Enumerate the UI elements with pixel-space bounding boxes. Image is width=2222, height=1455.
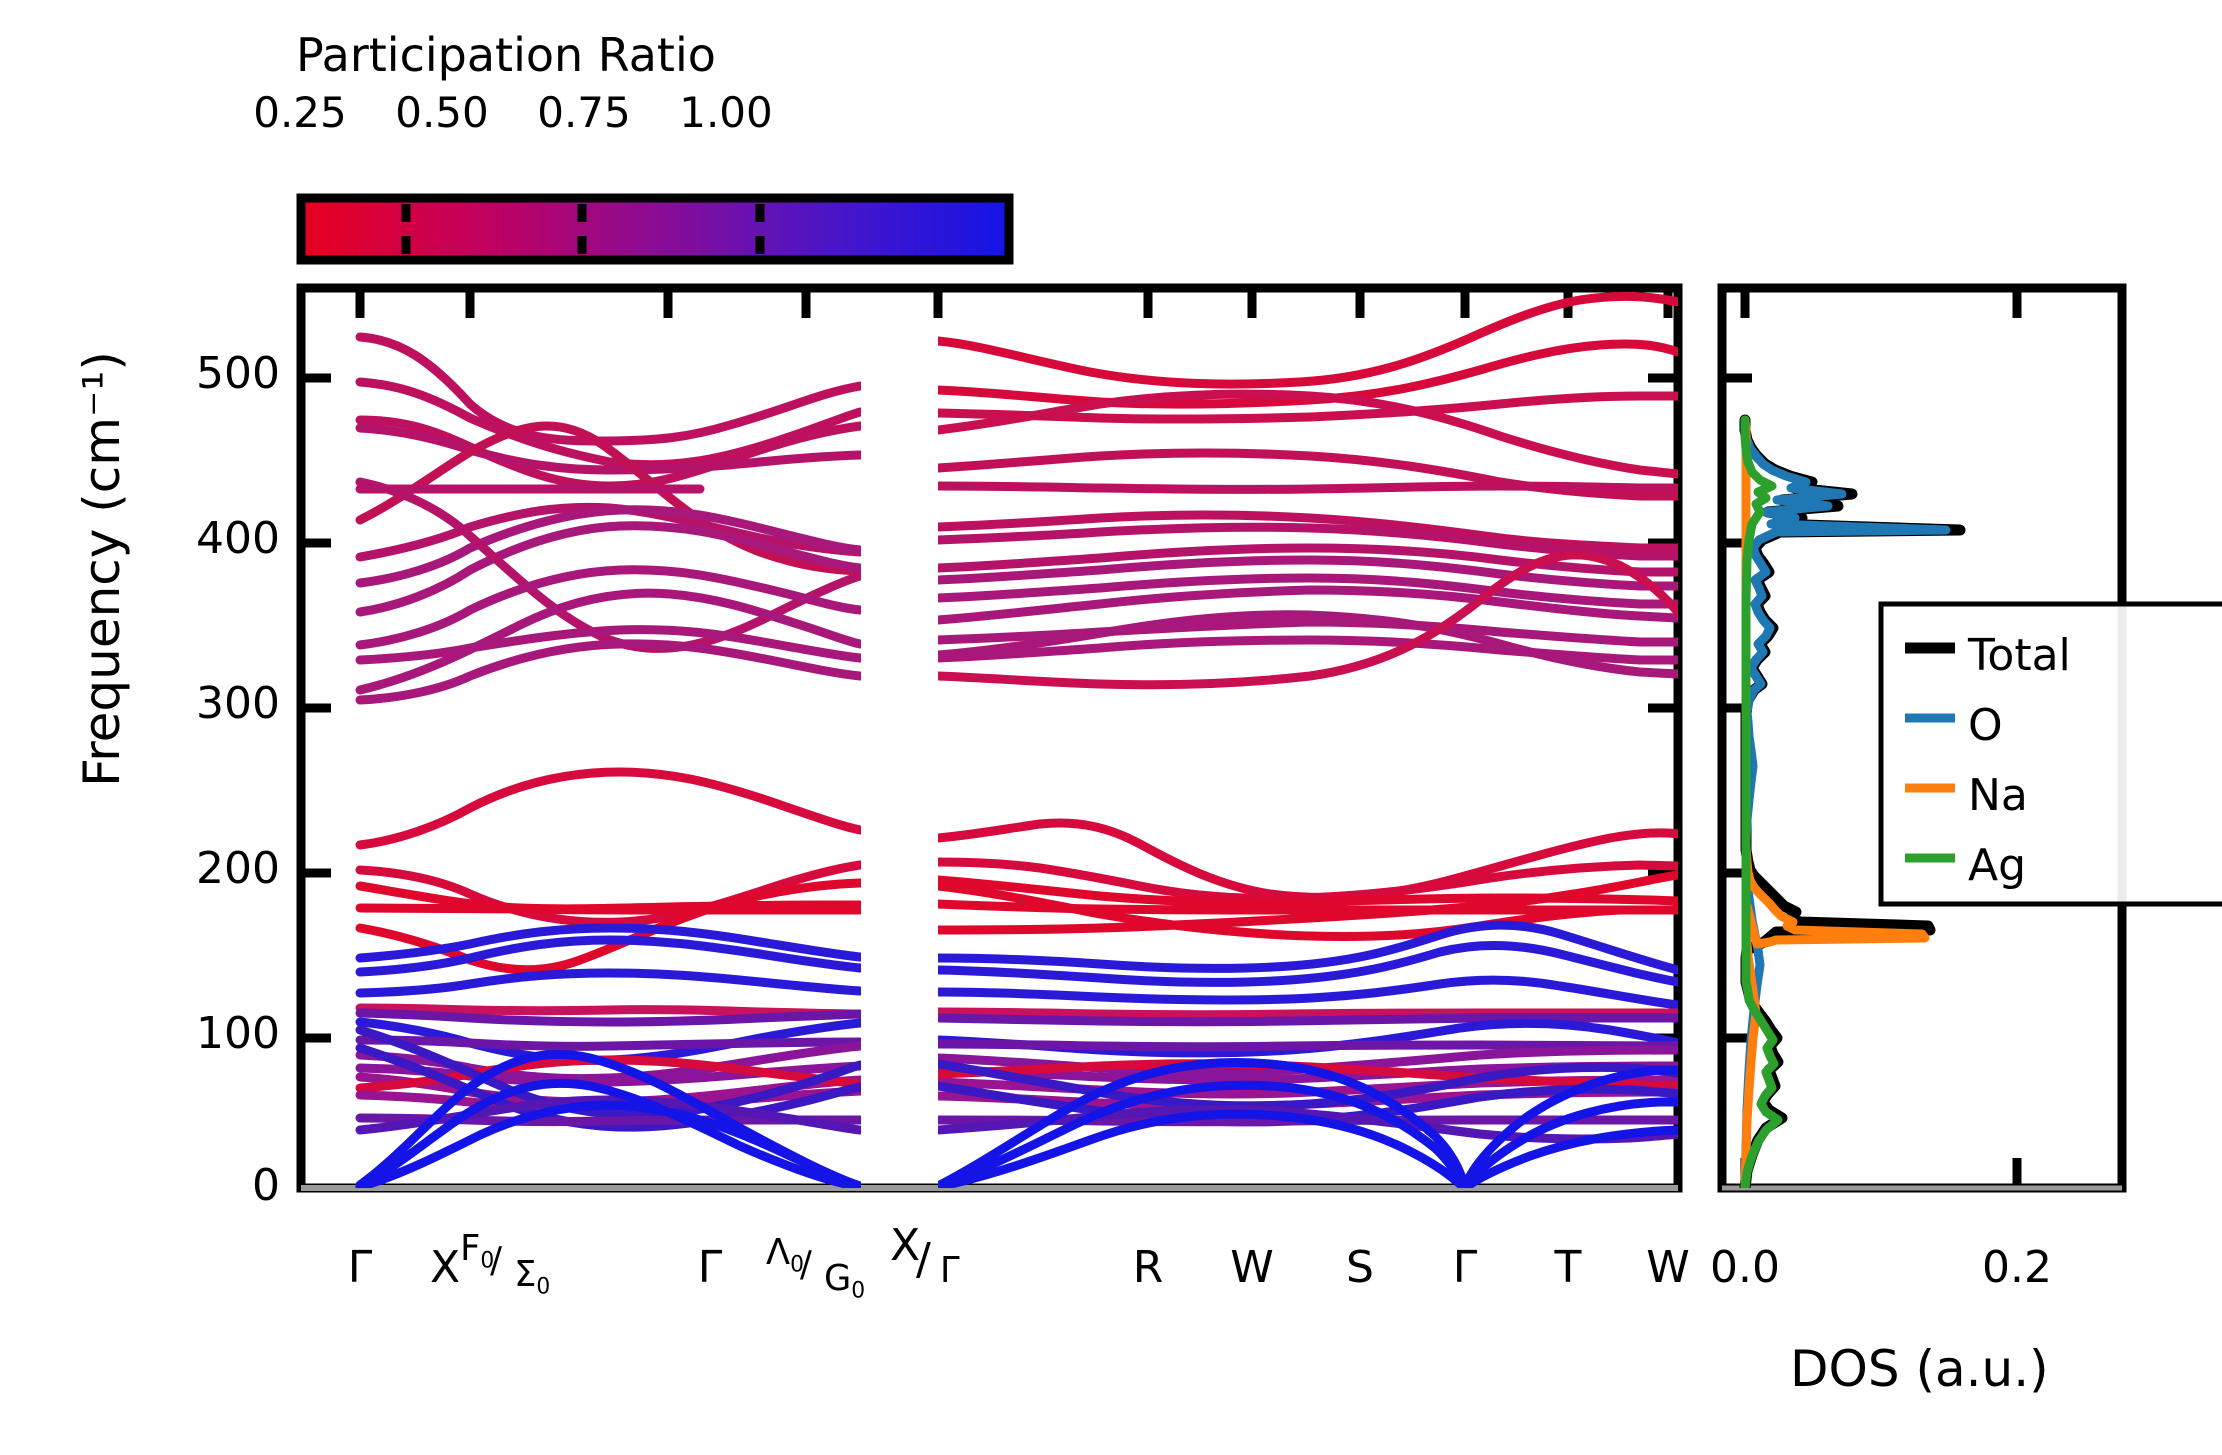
- y-tick-0: 0: [160, 1160, 280, 1211]
- figure-canvas: [0, 0, 2222, 1455]
- band-curves-segment-b-low: [938, 925, 1678, 1188]
- y-tick-100: 100: [160, 1008, 280, 1059]
- legend-label-o: O: [1968, 700, 2003, 751]
- colorbar-title: Participation Ratio: [296, 28, 716, 82]
- frac-den-sub-2: 0: [851, 1278, 865, 1303]
- frac-den: Σ: [514, 1254, 536, 1295]
- dos-tick-1: 0.2: [1952, 1242, 2082, 1293]
- x-tick-r: R: [1108, 1242, 1188, 1293]
- x-tick-lambda0-g0-x-gamma: Λ0/G0X/Γ: [766, 1242, 1066, 1297]
- x-tick-gamma-1: Γ: [320, 1242, 400, 1293]
- x-tick-s: S: [1320, 1242, 1400, 1293]
- x-tick-x-f0-sigma0: XF0/Σ0: [430, 1242, 680, 1293]
- x-tick-frac-f0-sigma0: F0/Σ0: [460, 1247, 558, 1282]
- frac-den-sub: 0: [536, 1274, 550, 1299]
- x-tick-t: T: [1528, 1242, 1608, 1293]
- band-curves-segment-a-low: [360, 928, 860, 1187]
- colorbar-tick-2: 0.75: [534, 88, 634, 137]
- y-tick-400: 400: [160, 513, 280, 564]
- x-tick-frac-x-gamma: X/Γ: [890, 1242, 972, 1286]
- colorbar: [301, 198, 1009, 260]
- legend-label-total: Total: [1968, 630, 2071, 681]
- y-axis-label: Frequency (cm⁻¹): [73, 349, 131, 789]
- frac-den-3: Γ: [940, 1250, 960, 1291]
- frac-num: F: [460, 1228, 480, 1269]
- band-curves-segment-b: [938, 296, 1678, 936]
- x-tick-gamma-3: Γ: [1425, 1242, 1505, 1293]
- y-tick-300: 300: [160, 678, 280, 729]
- colorbar-tick-1: 0.50: [392, 88, 492, 137]
- frac-den-2: G: [824, 1258, 851, 1299]
- dos-axis-label: DOS (a.u.): [1790, 1340, 2049, 1398]
- x-tick-x-letter: X: [430, 1242, 460, 1293]
- colorbar-tick-3: 1.00: [676, 88, 776, 137]
- y-tick-200: 200: [160, 843, 280, 894]
- colorbar-tick-0: 0.25: [250, 88, 350, 137]
- band-curves-segment-a: [360, 337, 860, 970]
- dos-tick-0: 0.0: [1680, 1242, 1810, 1293]
- legend-label-ag: Ag: [1968, 840, 2026, 891]
- y-tick-500: 500: [160, 348, 280, 399]
- legend-label-na: Na: [1968, 770, 2028, 821]
- x-tick-frac-lambda0-g0: Λ0/G0: [766, 1251, 884, 1286]
- frac-num-2: Λ: [766, 1232, 790, 1273]
- figure-root: Participation Ratio 0.25 0.50 0.75 1.00 …: [0, 0, 2222, 1455]
- x-tick-gamma-2: Γ: [670, 1242, 750, 1293]
- x-tick-w-1: W: [1212, 1242, 1292, 1293]
